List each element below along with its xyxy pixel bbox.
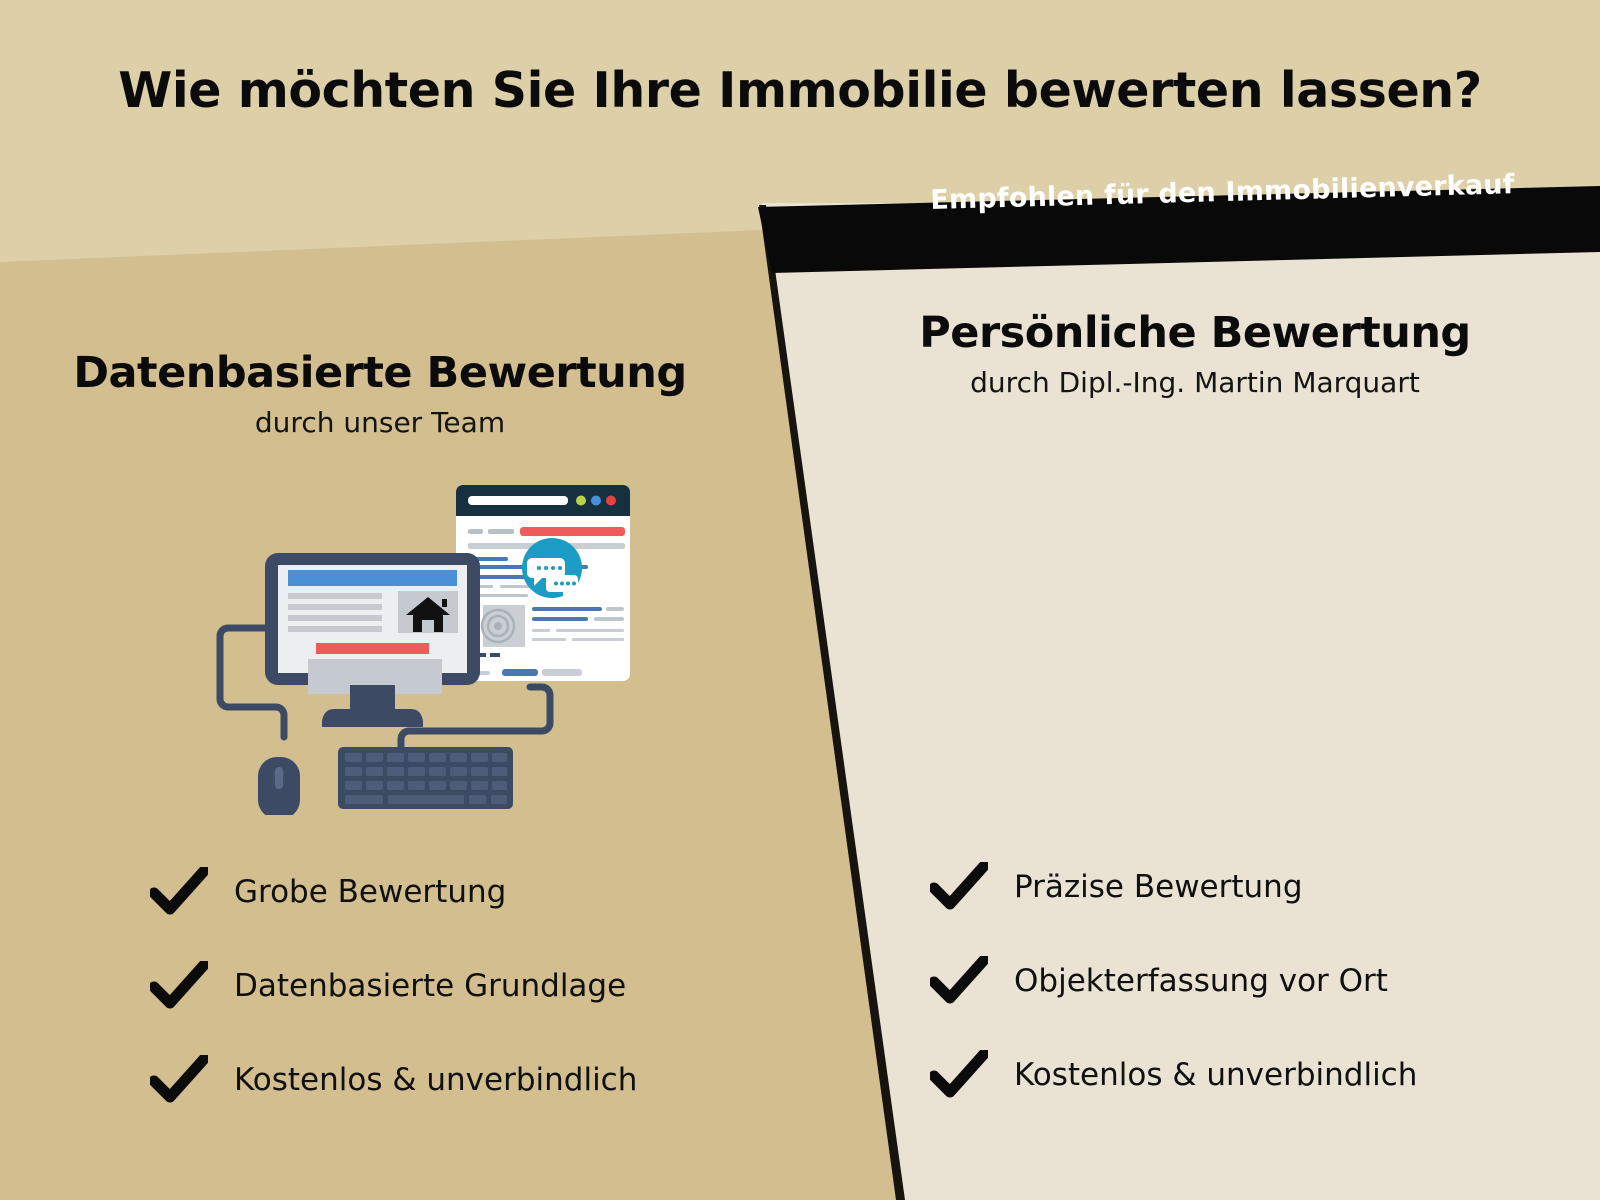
right-feature-list: Präzise Bewertung Objekterfassung vor Or… (930, 840, 1590, 1122)
right-option-panel[interactable]: Persönliche Bewertung durch Dipl.-Ing. M… (790, 0, 1600, 1200)
left-option-panel[interactable]: Datenbasierte Bewertung durch unser Team (0, 0, 760, 1200)
feature-label: Grobe Bewertung (234, 874, 506, 910)
left-feature-list: Grobe Bewertung Datenbasierte Grundlage … (150, 845, 750, 1127)
list-item: Objekterfassung vor Ort (930, 934, 1590, 1028)
browser-window-graphic (456, 485, 630, 681)
check-icon (150, 867, 208, 917)
left-panel-heading-group: Datenbasierte Bewertung durch unser Team (0, 348, 760, 439)
right-panel-subtitle: durch Dipl.-Ing. Martin Marquart (790, 366, 1600, 399)
feature-label: Kostenlos & unverbindlich (1014, 1057, 1417, 1093)
feature-label: Datenbasierte Grundlage (234, 968, 626, 1004)
check-icon (150, 1055, 208, 1105)
right-panel-title: Persönliche Bewertung (790, 308, 1600, 358)
list-item: Präzise Bewertung (930, 840, 1590, 934)
mouse-graphic (258, 757, 300, 815)
check-icon (930, 862, 988, 912)
left-panel-title: Datenbasierte Bewertung (0, 348, 760, 398)
keyboard-graphic (338, 747, 513, 809)
feature-label: Kostenlos & unverbindlich (234, 1062, 637, 1098)
list-item: Grobe Bewertung (150, 845, 750, 939)
infographic-canvas: Empfohlen für den Immobilienverkauf Wie … (0, 0, 1600, 1200)
right-panel-heading-group: Persönliche Bewertung durch Dipl.-Ing. M… (790, 308, 1600, 399)
list-item: Kostenlos & unverbindlich (930, 1028, 1590, 1122)
check-icon (930, 956, 988, 1006)
list-item: Datenbasierte Grundlage (150, 939, 750, 1033)
desktop-computer-illustration (210, 465, 630, 815)
left-panel-subtitle: durch unser Team (0, 406, 760, 439)
feature-label: Objekterfassung vor Ort (1014, 963, 1388, 999)
check-icon (150, 961, 208, 1011)
monitor-graphic (265, 553, 480, 727)
list-item: Kostenlos & unverbindlich (150, 1033, 750, 1127)
check-icon (930, 1050, 988, 1100)
feature-label: Präzise Bewertung (1014, 869, 1303, 905)
